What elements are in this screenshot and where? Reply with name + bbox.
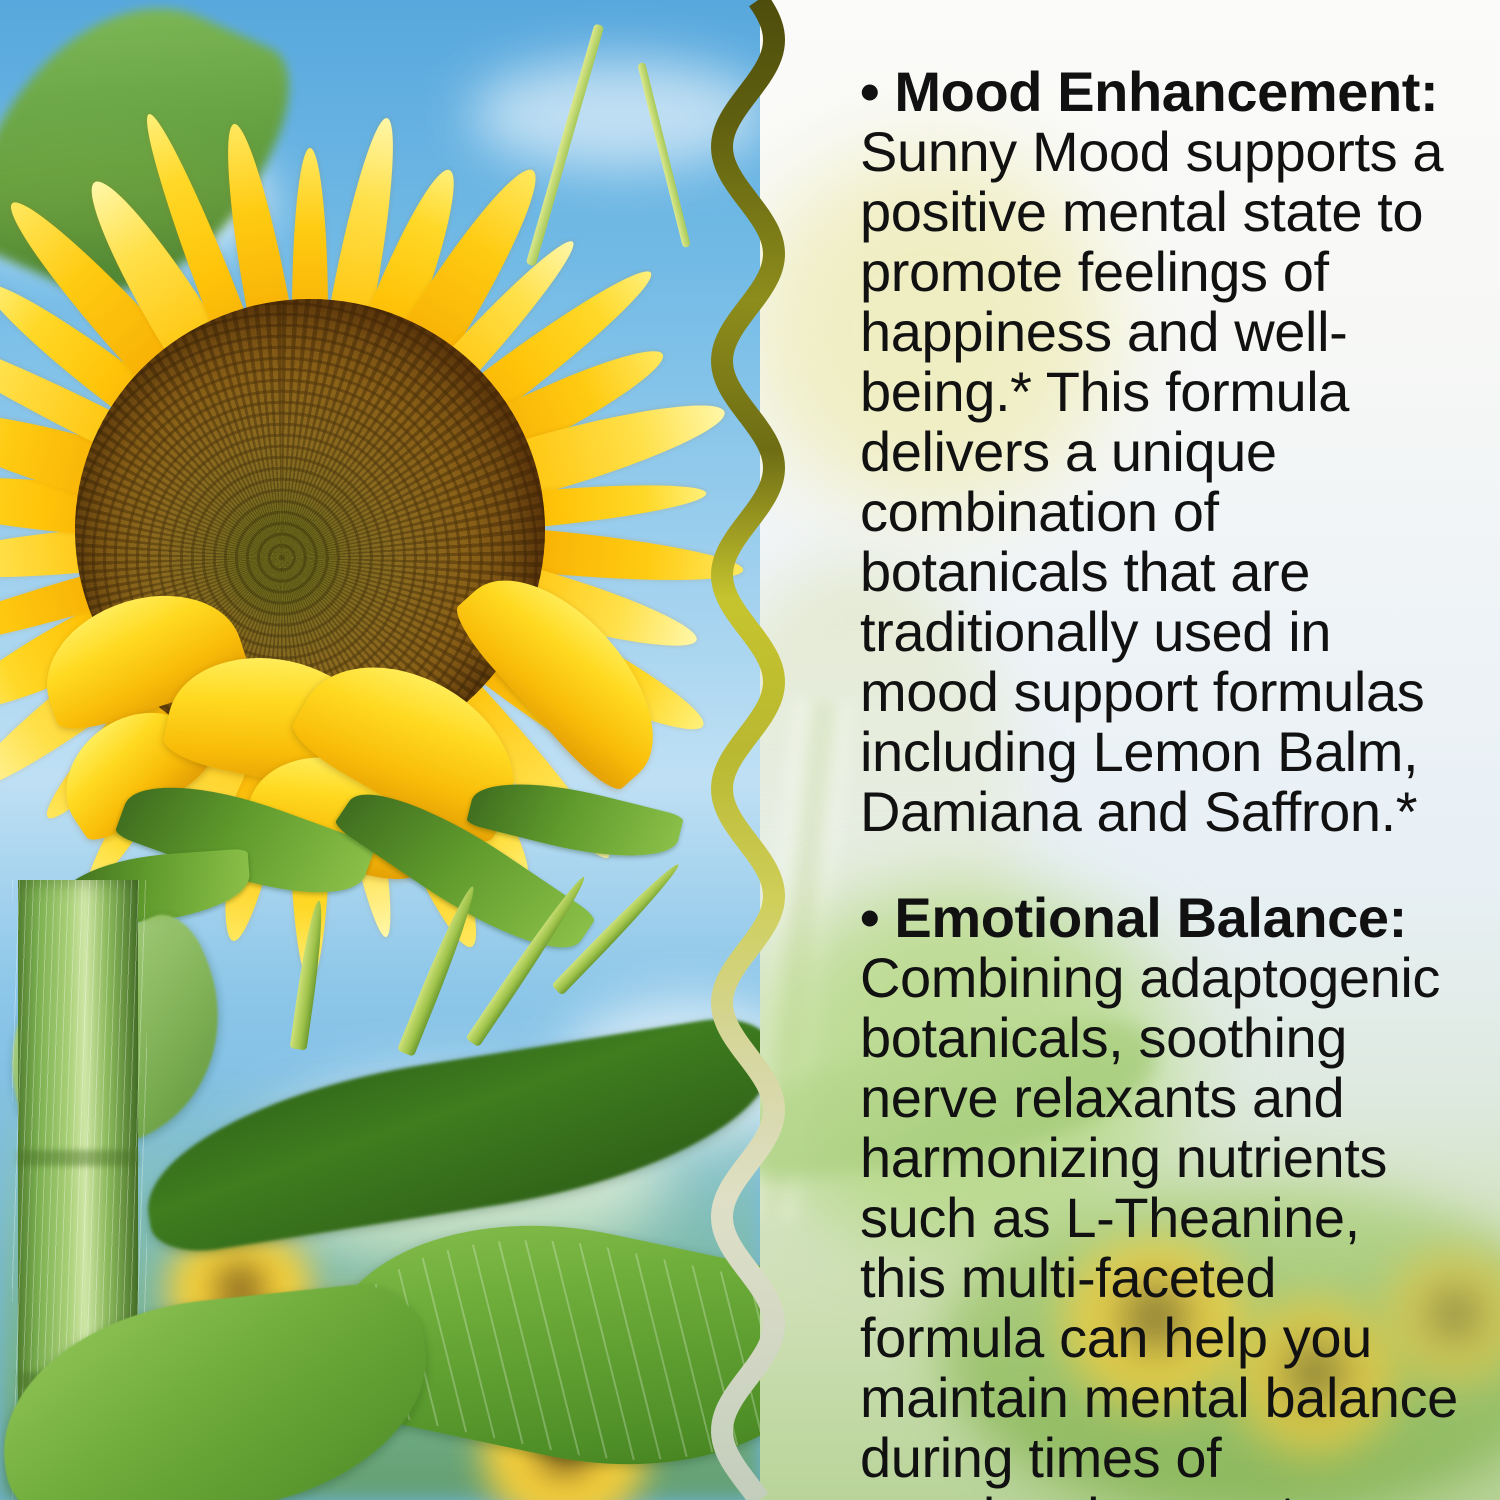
benefit-heading-colon: : xyxy=(1389,886,1407,949)
benefit-heading: Mood Enhancement xyxy=(894,60,1420,123)
benefit-body: Sunny Mood supports a positive mental st… xyxy=(860,120,1443,843)
sunflower-photo xyxy=(0,0,760,1500)
bullet-glyph: • xyxy=(860,60,879,123)
benefit-heading-colon: : xyxy=(1420,60,1438,123)
stem-node xyxy=(18,1150,138,1166)
benefit-block-mood-enhancement: • Mood Enhancement: Sunny Mood supports … xyxy=(860,62,1460,842)
benefit-block-emotional-balance: • Emotional Balance: Combining adaptogen… xyxy=(860,888,1460,1500)
text-panel: • Mood Enhancement: Sunny Mood supports … xyxy=(760,0,1500,1500)
benefits-copy: • Mood Enhancement: Sunny Mood supports … xyxy=(860,62,1460,1500)
benefit-heading: Emotional Balance xyxy=(894,886,1388,949)
marketing-image: • Mood Enhancement: Sunny Mood supports … xyxy=(0,0,1500,1500)
bullet-glyph: • xyxy=(860,886,879,949)
benefit-body: Combining adaptogenic botanicals, soothi… xyxy=(860,946,1458,1500)
